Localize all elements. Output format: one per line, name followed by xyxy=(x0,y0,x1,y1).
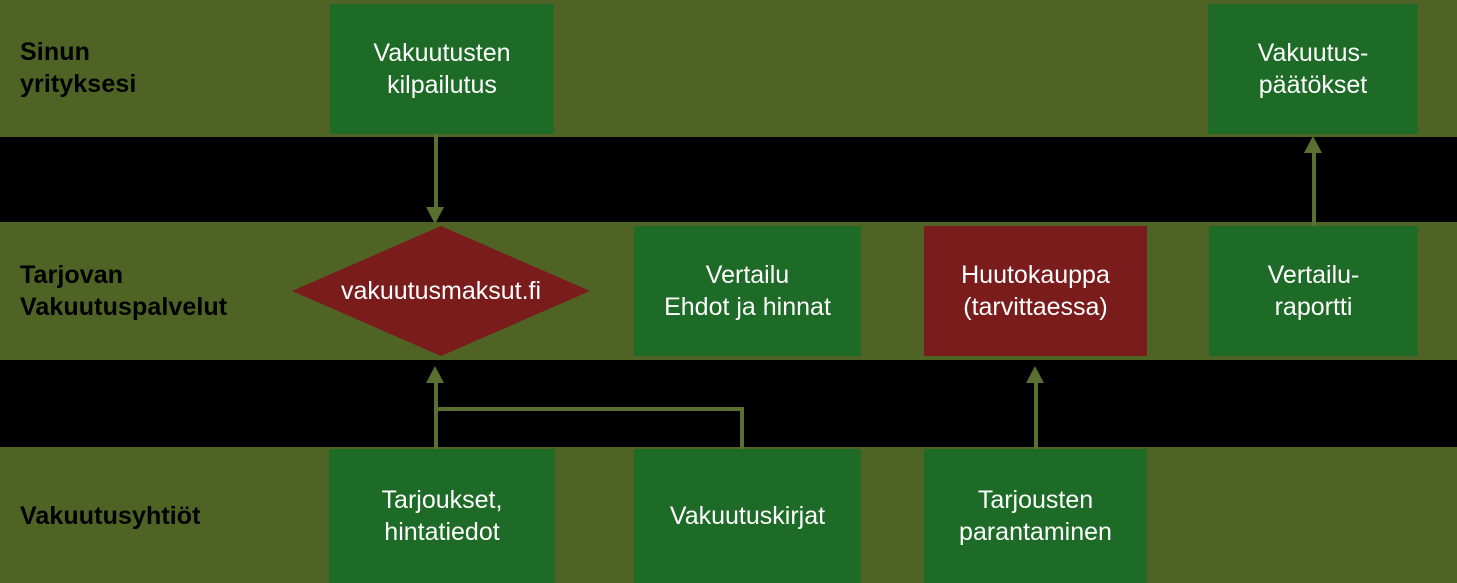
arrowhead-down-icon-kilpailutus-to-maksutfi xyxy=(426,207,444,224)
connector-kilpailutus-to-maksutfi-line xyxy=(434,134,438,209)
lane-label-sinun-yrityksesi: Sinun yrityksesi xyxy=(20,36,136,100)
lane-label-tarjovan-vakuutuspalvelut: Tarjovan Vakuutuspalvelut xyxy=(20,259,227,323)
arrowhead-up-icon-vertailuraportti-to-paatokset xyxy=(1304,136,1322,153)
node-vertailuraportti[interactable]: Vertailu- raportti xyxy=(1209,226,1418,356)
connector-vakuutuskirjat-horizontal xyxy=(434,407,744,411)
arrowhead-up-icon-parantaminen-to-huutokauppa xyxy=(1026,366,1044,383)
arrowhead-up-icon-tarjoukset-to-maksutfi xyxy=(426,366,444,383)
node-vakuutusmaksut-fi[interactable]: vakuutusmaksut.fi xyxy=(292,226,590,356)
node-vakuutusten-kilpailutus[interactable]: Vakuutusten kilpailutus xyxy=(330,4,554,134)
connector-vertailuraportti-to-paatokset-line xyxy=(1312,152,1316,226)
connector-parantaminen-to-huutokauppa-line xyxy=(1034,382,1038,449)
node-vakuutusmaksut-fi-label: vakuutusmaksut.fi xyxy=(341,276,541,306)
node-tarjoukset-hintatiedot[interactable]: Tarjoukset, hintatiedot xyxy=(329,449,555,583)
node-huutokauppa[interactable]: Huutokauppa (tarvittaessa) xyxy=(924,226,1147,356)
node-vakuutuspaatokset[interactable]: Vakuutus- päätökset xyxy=(1208,4,1418,134)
swimlane-diagram: Sinun yrityksesi Tarjovan Vakuutuspalvel… xyxy=(0,0,1457,583)
connector-vakuutuskirjat-riser xyxy=(740,407,744,449)
node-vertailu-ehdot-ja-hinnat[interactable]: Vertailu Ehdot ja hinnat xyxy=(634,226,861,356)
node-vakuutuskirjat[interactable]: Vakuutuskirjat xyxy=(634,449,861,583)
connector-tarjoukset-to-maksutfi-line xyxy=(434,382,438,449)
node-tarjousten-parantaminen[interactable]: Tarjousten parantaminen xyxy=(924,449,1147,583)
lane-label-vakuutusyhtiot: Vakuutusyhtiöt xyxy=(20,500,201,532)
